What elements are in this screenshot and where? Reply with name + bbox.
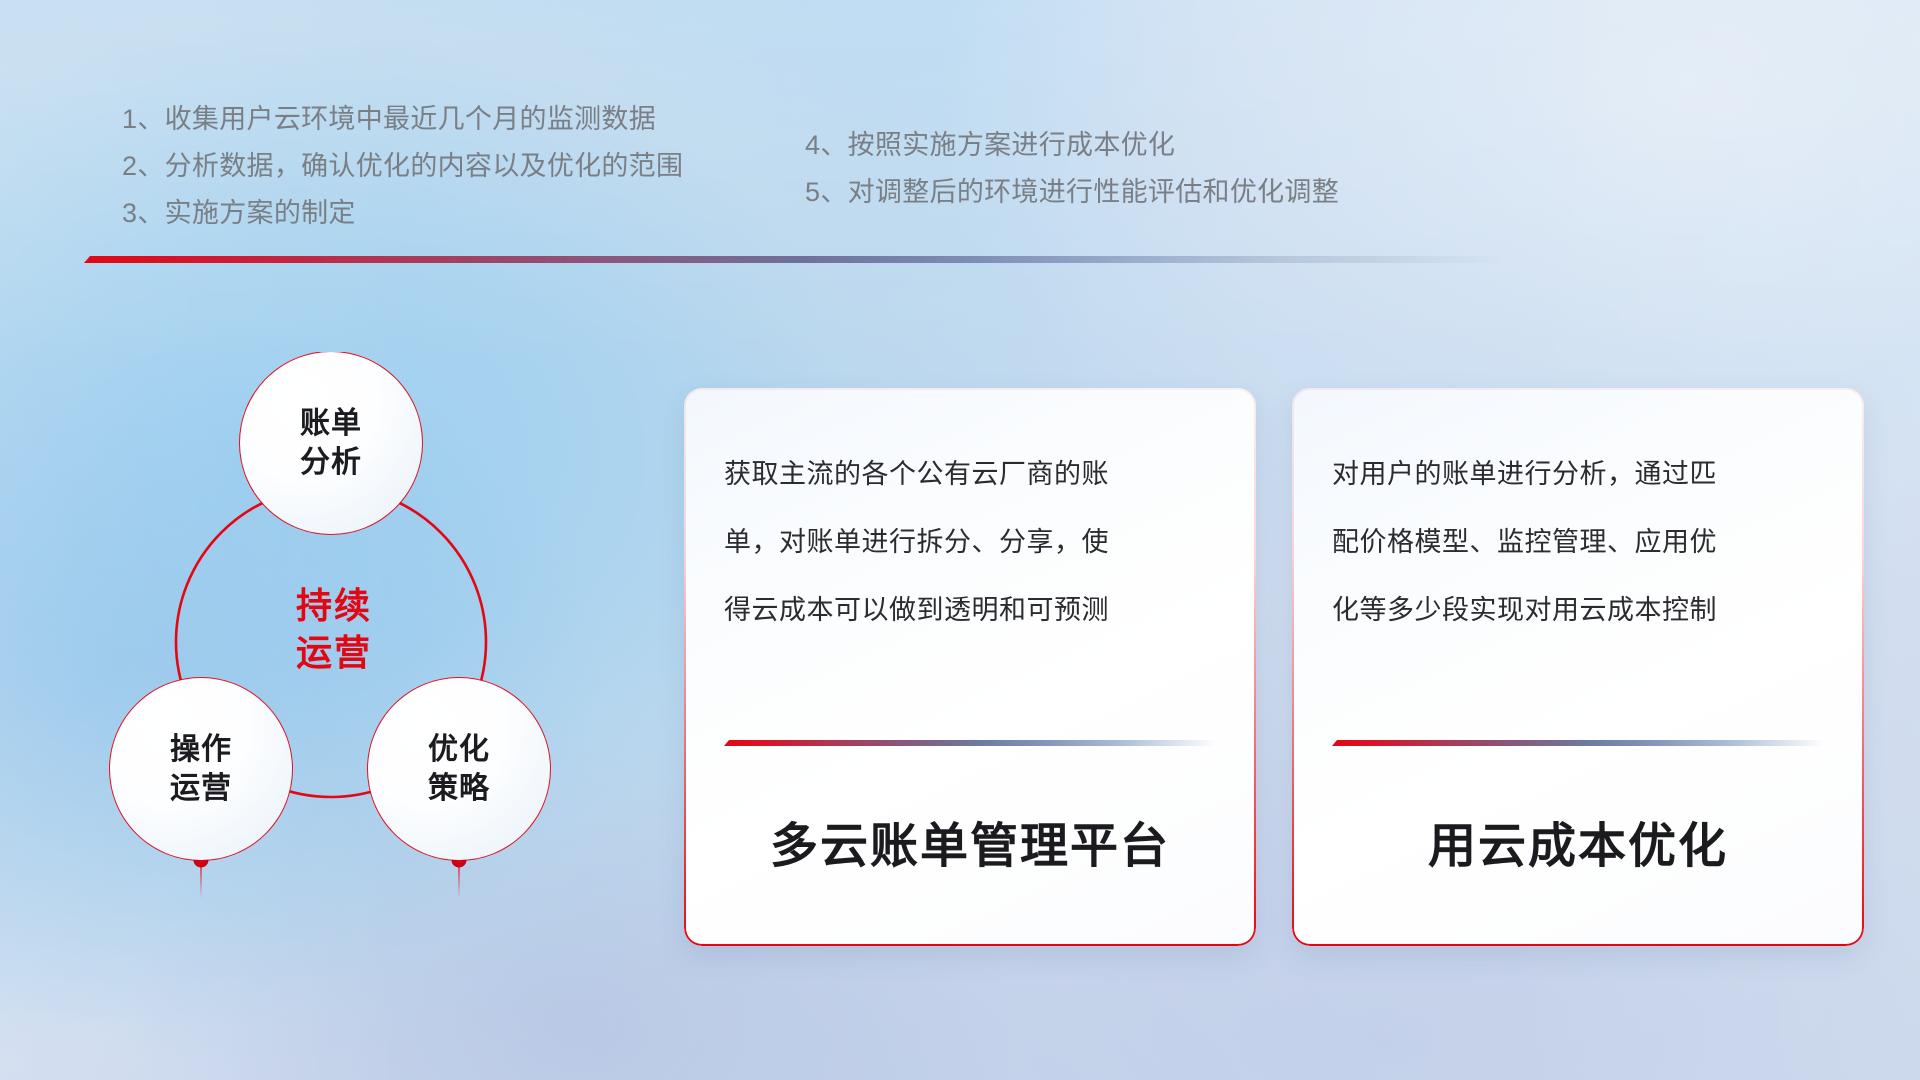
card-divider (1332, 740, 1824, 746)
continuous-operation-venn-diagram: 账单分析 操作运营 优化策略 持续 运营 (96, 352, 656, 972)
step-item: 2、分析数据，确认优化的内容以及优化的范围 (122, 143, 683, 190)
card-body-line: 得云成本可以做到透明和可预测 (724, 576, 1220, 644)
venn-lobe-bill-analysis[interactable]: 账单分析 (240, 352, 422, 534)
steps-left-column: 1、收集用户云环境中最近几个月的监测数据 2、分析数据，确认优化的内容以及优化的… (122, 96, 683, 237)
card-body-line: 单，对账单进行拆分、分享，使 (724, 508, 1220, 576)
card-body-text: 获取主流的各个公有云厂商的账 单，对账单进行拆分、分享，使 得云成本可以做到透明… (724, 440, 1220, 644)
card-body-line: 化等多少段实现对用云成本控制 (1332, 576, 1828, 644)
venn-center-line1: 持续 (244, 582, 424, 629)
step-item: 1、收集用户云环境中最近几个月的监测数据 (122, 96, 683, 143)
card-body-line: 配价格模型、监控管理、应用优 (1332, 508, 1828, 576)
card-divider (724, 740, 1216, 746)
steps-right-column: 4、按照实施方案进行成本优化 5、对调整后的环境进行性能评估和优化调整 (805, 122, 1339, 216)
venn-lobe-operation[interactable]: 操作运营 (110, 678, 292, 860)
venn-center-line2: 运营 (244, 629, 424, 676)
card-body-text: 对用户的账单进行分析，通过匹 配价格模型、监控管理、应用优 化等多少段实现对用云… (1332, 440, 1828, 644)
venn-lobe-label: 操作运营 (170, 730, 232, 808)
card-body-line: 获取主流的各个公有云厂商的账 (724, 440, 1220, 508)
venn-lobe-optimization-strategy[interactable]: 优化策略 (368, 678, 550, 860)
card-title: 多云账单管理平台 (684, 806, 1256, 876)
section-divider (84, 256, 1508, 263)
card-body-line: 对用户的账单进行分析，通过匹 (1332, 440, 1828, 508)
step-item: 4、按照实施方案进行成本优化 (805, 122, 1339, 169)
venn-lobe-label: 账单分析 (300, 404, 362, 482)
card-cloud-cost-optimization[interactable]: 对用户的账单进行分析，通过匹 配价格模型、监控管理、应用优 化等多少段实现对用云… (1292, 388, 1864, 946)
card-multi-cloud-bill-platform[interactable]: 获取主流的各个公有云厂商的账 单，对账单进行拆分、分享，使 得云成本可以做到透明… (684, 388, 1256, 946)
step-item: 5、对调整后的环境进行性能评估和优化调整 (805, 169, 1339, 216)
card-title: 用云成本优化 (1292, 806, 1864, 876)
step-item: 3、实施方案的制定 (122, 190, 683, 237)
venn-center-label: 持续 运营 (244, 582, 424, 676)
venn-lobe-label: 优化策略 (428, 730, 490, 808)
